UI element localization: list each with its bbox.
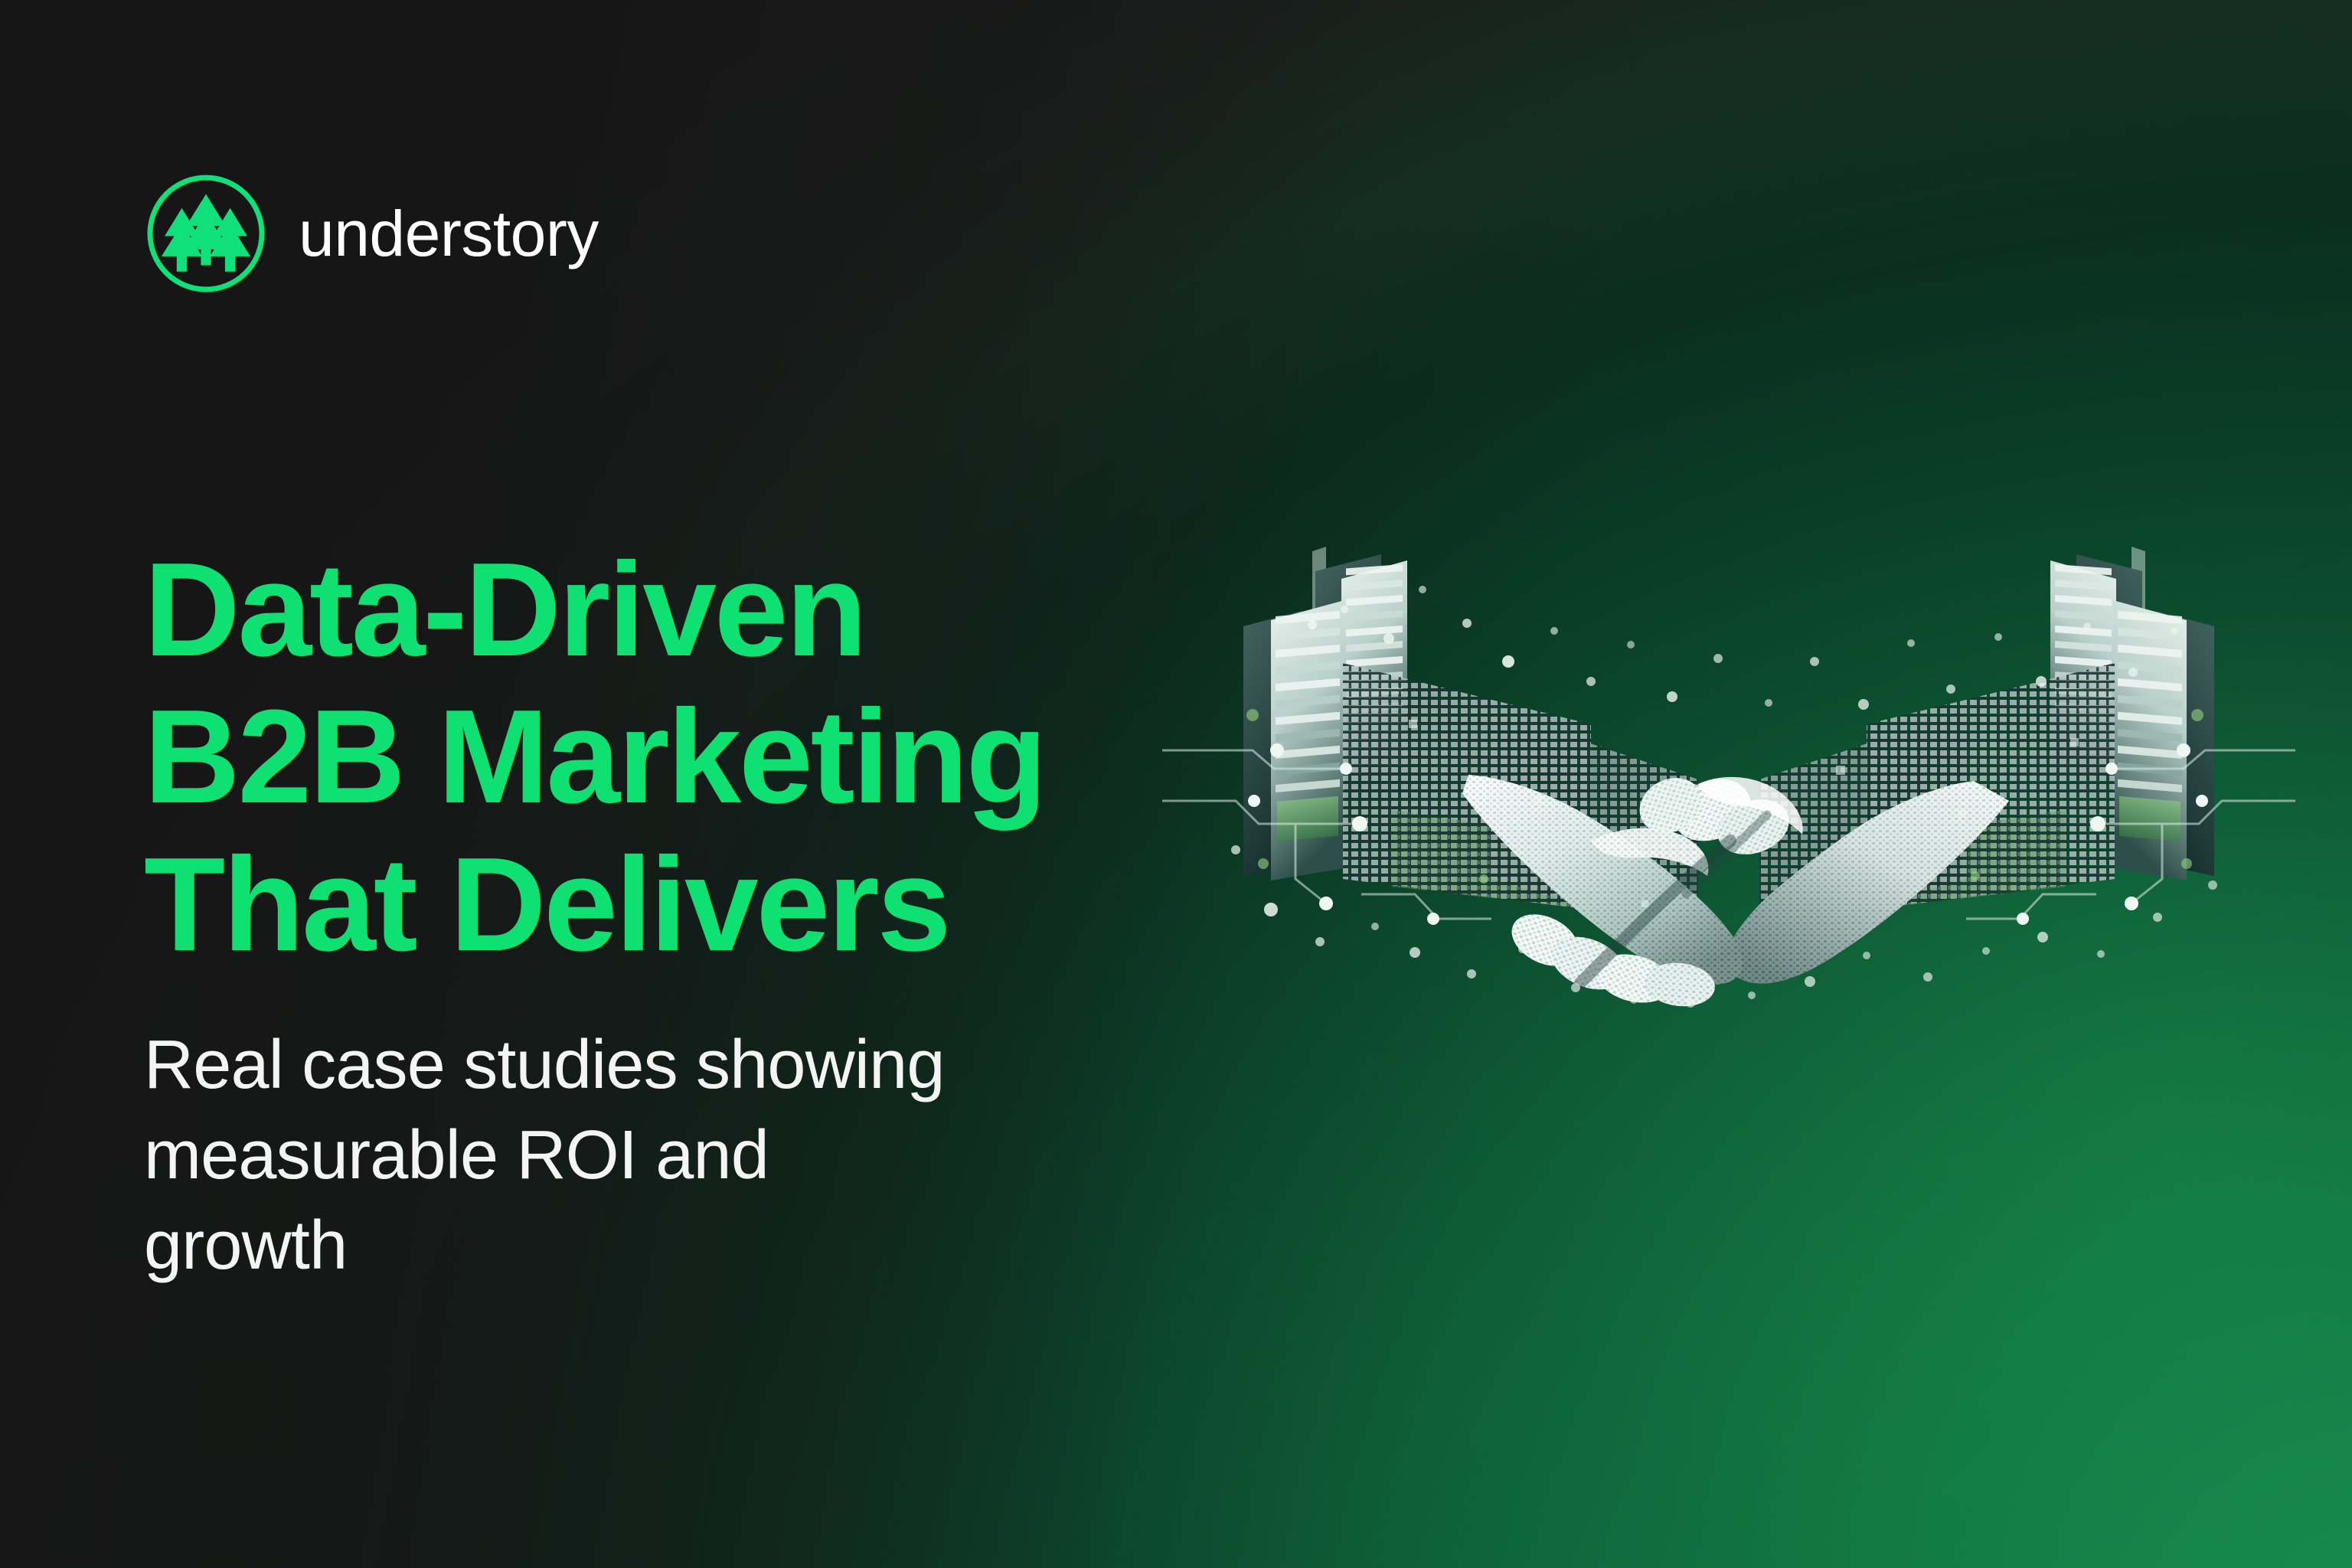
hero-illustration [1162, 481, 2295, 1009]
headline-line-2: B2B Marketing [144, 683, 1231, 830]
page-subtitle: Real case studies showing measurable ROI… [144, 1021, 1231, 1292]
page-title: Data-Driven B2B Marketing That Delivers [144, 536, 1231, 978]
brand-logo-lockup[interactable]: understory [142, 170, 599, 297]
presentation-slide: understory Data-Driven B2B Marketing Tha… [0, 0, 2352, 1568]
subhead-line-1: Real case studies showing [144, 1021, 1231, 1111]
subhead-line-3: growth [144, 1201, 1231, 1292]
headline-line-1: Data-Driven [144, 536, 1231, 683]
three-trees-circle-icon [142, 170, 269, 297]
copy-block: Data-Driven B2B Marketing That Delivers … [144, 536, 1231, 1291]
headline-line-3: That Delivers [144, 831, 1231, 978]
brand-wordmark: understory [299, 201, 599, 266]
subhead-line-2: measurable ROI and [144, 1111, 1231, 1201]
